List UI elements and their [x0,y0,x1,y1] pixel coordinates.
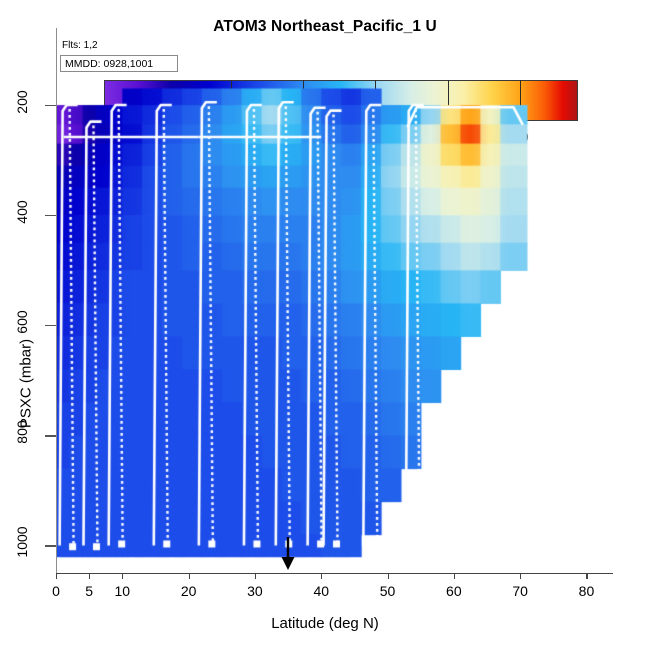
y-tick [45,325,56,326]
x-tick [388,573,389,579]
x-tick [56,573,57,579]
figure-root: ATOM3 Northeast_Pacific_1 U Flts: 1,2 MM… [0,0,650,650]
y-tick [45,105,56,106]
x-tick [189,573,190,579]
y-tick-label: 1000 [14,520,30,564]
x-tick [255,573,256,579]
x-tick [454,573,455,579]
x-axis-line [56,573,613,574]
y-tick-label: 200 [14,80,30,124]
y-tick [45,435,56,436]
x-tick-label: 50 [380,583,396,599]
x-tick-label: 80 [579,583,595,599]
x-tick-label: 60 [446,583,462,599]
x-tick-label: 70 [512,583,528,599]
flight-track-overlay [56,28,613,573]
x-tick [586,573,587,579]
y-tick [45,545,56,546]
x-tick [321,573,322,579]
x-tick-label: 40 [313,583,329,599]
x-tick [520,573,521,579]
x-tick [122,573,123,579]
x-tick-label: 30 [247,583,263,599]
y-tick-label: 400 [14,190,30,234]
y-axis-title: PSXC (mbar) [18,314,35,454]
x-axis-title: Latitude (deg N) [0,615,650,632]
plot-area [56,28,613,573]
x-tick-label: 5 [85,583,93,599]
x-tick-label: 20 [181,583,197,599]
latitude-marker-arrow [279,537,297,571]
x-tick-label: 0 [52,583,60,599]
x-tick-label: 10 [115,583,131,599]
y-axis-line [56,28,57,574]
y-tick [45,215,56,216]
x-tick [89,573,90,579]
